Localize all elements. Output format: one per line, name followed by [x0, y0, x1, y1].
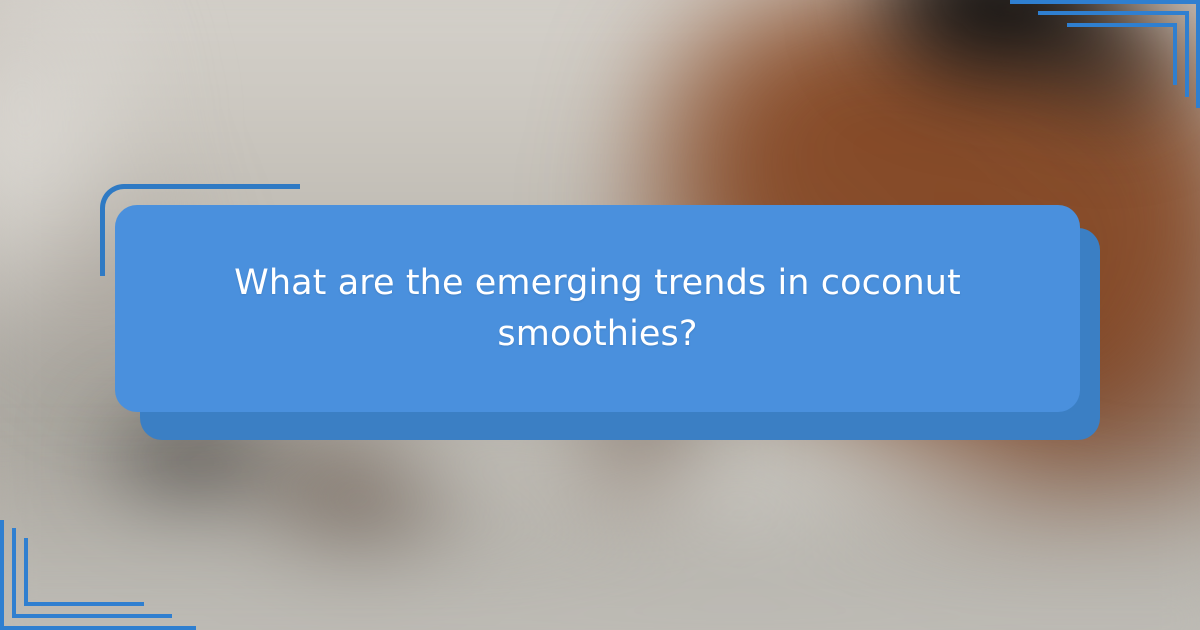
social-card-canvas: What are the emerging trends in coconut …: [0, 0, 1200, 630]
question-text: What are the emerging trends in coconut …: [194, 258, 1002, 360]
question-card: What are the emerging trends in coconut …: [115, 205, 1080, 412]
